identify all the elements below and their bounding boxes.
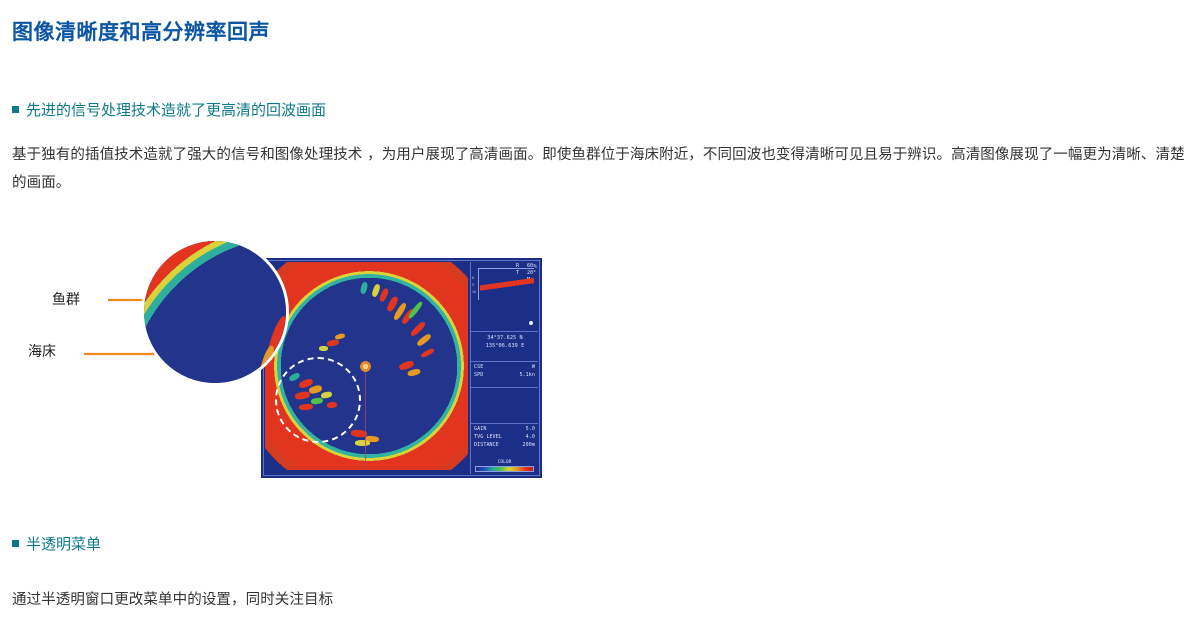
bearing-tick: 0 <box>472 276 474 280</box>
square-bullet-icon <box>12 106 19 113</box>
gain-row[interactable]: GAIN 5.0 <box>474 425 535 433</box>
section-heading-label: 半透明菜单 <box>26 533 101 554</box>
section-body-image-clarity: 基于独有的插值技术造就了强大的信号和图像处理技术 ，为用户展现了高清画面。即使鱼… <box>12 141 1190 197</box>
own-ship-marker-icon <box>360 361 371 372</box>
latitude-readout: 34°37.625 N <box>474 334 536 342</box>
fish-echo-cluster <box>319 346 328 351</box>
bearing-tick: 10 <box>472 290 476 294</box>
speed-label: SPD <box>474 371 483 379</box>
gain-value: 5.0 <box>526 425 535 433</box>
magnified-fish-echo <box>257 344 277 381</box>
speed-value: 5.1kn <box>519 371 535 379</box>
fish-echo-cluster <box>355 440 370 446</box>
tvg-level-value: 4.0 <box>526 433 535 441</box>
speed-row: SPD 5.1kn <box>474 371 535 379</box>
distance-row[interactable]: DISTANCE 200m <box>474 441 535 449</box>
heading-line <box>365 366 366 470</box>
longitude-readout: 135°06.639 E <box>474 342 536 350</box>
tvg-level-row[interactable]: TVG LEVEL 4.0 <box>474 433 535 441</box>
settings-section: GAIN 5.0 TVG LEVEL 4.0 DISTANCE 200m <box>471 424 538 460</box>
course-speed-section: CSE W SPD 5.1kn <box>471 362 538 388</box>
course-label: CSE <box>474 363 483 371</box>
callout-label-seabed: 海床 <box>28 341 56 361</box>
color-section: COLOR <box>471 460 538 474</box>
focus-highlight-circle <box>275 357 361 443</box>
section-body-translucent-menu: 通过半透明窗口更改菜单中的设置，同时关注目标 <box>12 586 812 614</box>
magnified-scope-content <box>141 238 289 386</box>
color-scale-bar <box>475 466 534 472</box>
bearing-beam-echo <box>480 273 534 295</box>
bearing-tick-topright: 0 <box>535 265 537 269</box>
course-value: W <box>532 363 535 371</box>
panel-spacer <box>471 388 538 424</box>
section-heading-translucent-menu: 半透明菜单 <box>12 533 101 554</box>
bearing-profile-section: 0 0 5 10 <box>471 262 538 332</box>
tvg-level-label: TVG LEVEL <box>474 433 502 441</box>
bearing-target-dot <box>529 321 533 325</box>
square-bullet-icon <box>12 540 19 547</box>
magnified-detail-inset <box>141 238 289 386</box>
callout-label-fish-school: 鱼群 <box>52 289 80 309</box>
sonar-data-panel: 0 0 5 10 34°37.625 N 135°06.639 E CSE W … <box>470 262 538 474</box>
bearing-profile-graph <box>478 268 534 300</box>
bearing-tick: 5 <box>472 283 474 287</box>
gain-label: GAIN <box>474 425 486 433</box>
page-title: 图像清晰度和高分辨率回声 <box>12 16 270 46</box>
section-heading-label: 先进的信号处理技术造就了更高清的回波画面 <box>26 99 326 120</box>
distance-value: 200m <box>523 441 535 449</box>
distance-label: DISTANCE <box>474 441 499 449</box>
course-row: CSE W <box>474 363 535 371</box>
position-section: 34°37.625 N 135°06.639 E <box>471 332 538 362</box>
section-heading-image-clarity: 先进的信号处理技术造就了更高清的回波画面 <box>12 99 326 120</box>
